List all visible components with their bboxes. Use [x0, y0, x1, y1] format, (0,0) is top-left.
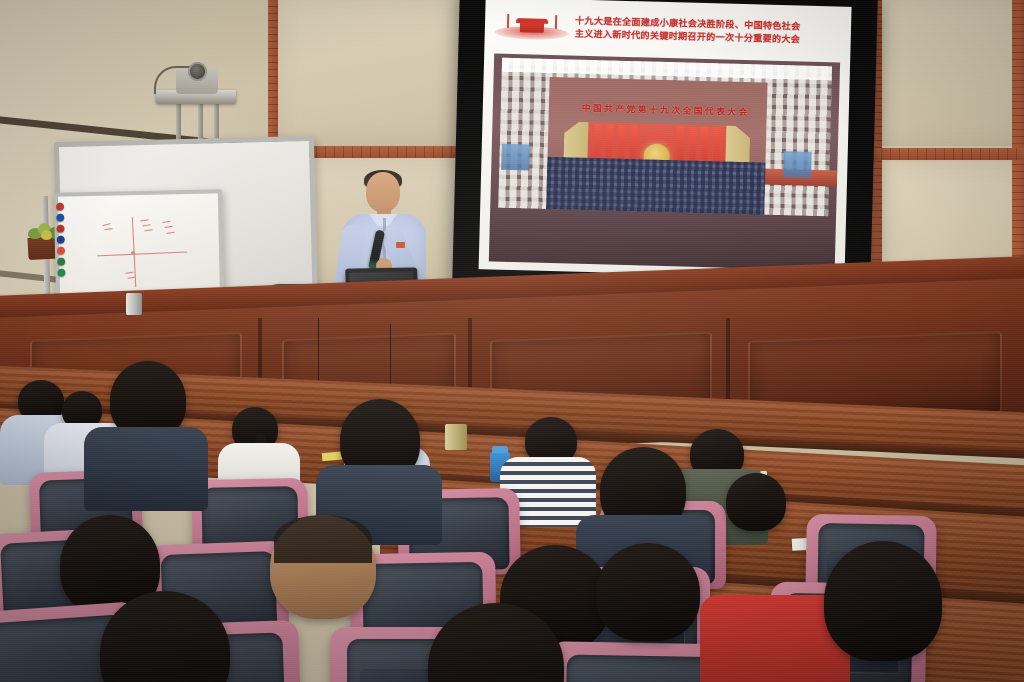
presenter-head [366, 172, 400, 212]
audience-head [726, 473, 786, 531]
projector-lens-icon [188, 62, 207, 81]
presenter-badge [396, 242, 405, 248]
audience-head [596, 543, 700, 641]
slide-header: 十九大是在全面建成小康社会决胜阶段、中国特色社会 主义进入新时代的关键时期召开的… [484, 1, 851, 59]
projector [148, 60, 248, 145]
audience-head [270, 515, 376, 619]
lecture-hall-photo: 十九大是在全面建成小康社会决胜阶段、中国特色社会 主义进入新时代的关键时期召开的… [0, 0, 1024, 682]
wall-panel [880, 0, 1024, 146]
hall-side-screen [783, 151, 812, 178]
hall-side-screen [501, 144, 530, 171]
wall-panel [276, 0, 472, 146]
audience-area [0, 355, 1024, 682]
steel-cup [126, 293, 142, 315]
slide-header-text: 十九大是在全面建成小康社会决胜阶段、中国特色社会 主义进入新时代的关键时期召开的… [575, 14, 852, 48]
screen-surface: 十九大是在全面建成小康社会决胜阶段、中国特色社会 主义进入新时代的关键时期召开的… [479, 0, 852, 279]
audience-head [824, 541, 942, 661]
projection-screen: 十九大是在全面建成小康社会决胜阶段、中国特色社会 主义进入新时代的关键时期召开的… [452, 0, 878, 295]
hall-interior [546, 77, 767, 215]
audience-torso [84, 427, 208, 511]
delegate-seating [546, 157, 765, 215]
tiananmen-emblem-icon [495, 10, 570, 44]
slide-photo: 中国共产党第十九次全国代表大会 [489, 53, 840, 270]
